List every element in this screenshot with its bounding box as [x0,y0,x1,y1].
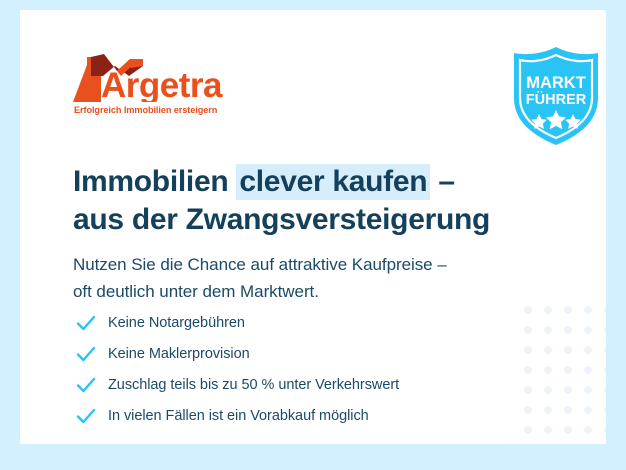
badge-line2: FÜHRER [526,91,587,108]
check-icon [75,405,97,427]
decorative-dot [564,386,572,394]
decorative-dot [564,406,572,414]
decorative-dot [564,366,572,374]
headline-line1-after: – [430,165,454,198]
decorative-dot [604,326,606,334]
argetra-logo[interactable]: Argetra Erfolgreich Immobilien ersteiger… [73,54,273,120]
svg-text:Argetra: Argetra [101,66,223,102]
decorative-dot [544,306,552,314]
subheadline-line2: oft deutlich unter dem Marktwert. [73,278,553,305]
decorative-dot [584,406,592,414]
decorative-dot [544,406,552,414]
benefit-list: Keine Notargebühren Keine Maklerprovisio… [75,307,545,431]
decorative-dot [564,306,572,314]
logo-tagline: Erfolgreich Immobilien ersteigern [74,105,217,115]
decorative-dot [544,386,552,394]
benefit-label: In vielen Fällen ist ein Vorabkauf mögli… [108,407,369,425]
check-icon [75,374,97,396]
subheadline: Nutzen Sie die Chance auf attraktive Kau… [73,251,553,305]
decorative-dot [584,306,592,314]
decorative-dot [604,406,606,414]
decorative-dot [604,366,606,374]
argetra-logo-mark-icon: Argetra [73,54,223,102]
benefit-label: Keine Maklerprovision [108,345,250,363]
decorative-dot [544,326,552,334]
list-item: Zuschlag teils bis zu 50 % unter Verkehr… [75,369,545,400]
decorative-dot [544,366,552,374]
decorative-dot [604,306,606,314]
list-item: Keine Maklerprovision [75,338,545,369]
list-item: In vielen Fällen ist ein Vorabkauf mögli… [75,400,545,431]
page-frame: Argetra Erfolgreich Immobilien ersteiger… [0,0,626,470]
decorative-dot [564,346,572,354]
list-item: Keine Notargebühren [75,307,545,338]
headline-line2: aus der Zwangsversteigerung [73,201,543,239]
badge-line1: MARKT [526,74,586,92]
market-leader-badge: MARKT FÜHRER [510,46,602,146]
decorative-dot [584,426,592,434]
decorative-dot [584,366,592,374]
decorative-dot [544,346,552,354]
decorative-dot [584,346,592,354]
benefit-label: Keine Notargebühren [108,314,245,332]
headline: Immobilien clever kaufen – aus der Zwang… [73,163,543,239]
decorative-dot [564,326,572,334]
decorative-dot [544,426,552,434]
decorative-dot [604,346,606,354]
promo-card: Argetra Erfolgreich Immobilien ersteiger… [20,10,606,444]
subheadline-line1: Nutzen Sie die Chance auf attraktive Kau… [73,255,447,274]
decorative-dot [564,426,572,434]
decorative-dot [604,426,606,434]
headline-highlight: clever kaufen [236,164,430,200]
check-icon [75,343,97,365]
decorative-dot [604,386,606,394]
check-icon [75,312,97,334]
decorative-dot [584,386,592,394]
decorative-dot [584,326,592,334]
benefit-label: Zuschlag teils bis zu 50 % unter Verkehr… [108,376,399,394]
headline-line1-before: Immobilien [73,165,236,198]
